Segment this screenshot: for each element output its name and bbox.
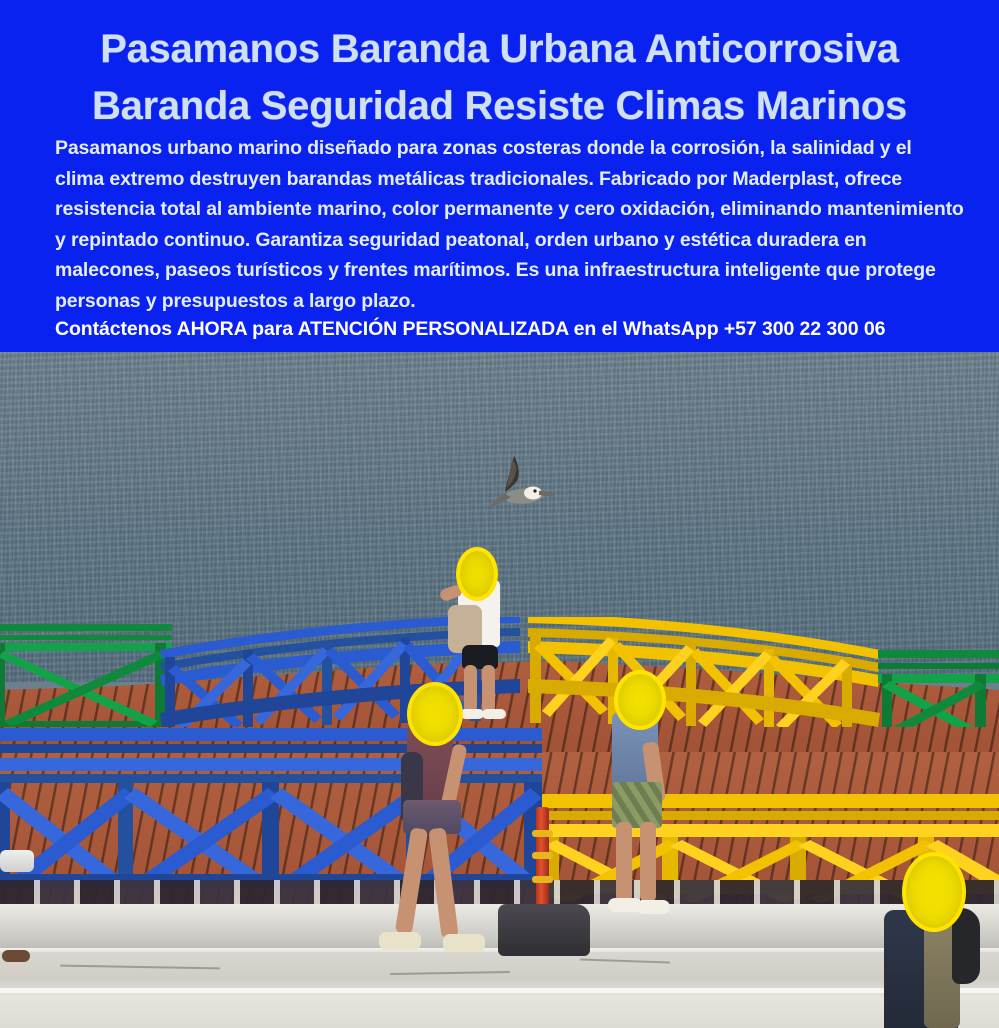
concrete-walkway xyxy=(0,952,999,1028)
page-title-line-1: Pasamanos Baranda Urbana Anticorrosiva xyxy=(0,22,999,76)
pelican-bird-icon xyxy=(481,452,573,520)
face-blur-ellipse xyxy=(407,682,463,746)
contact-call-to-action: Contáctenos AHORA para ATENCIÓN PERSONAL… xyxy=(55,316,975,342)
railing-panel-green-left xyxy=(0,624,172,727)
ground-bag xyxy=(498,904,590,956)
face-blur-ellipse xyxy=(614,670,666,730)
pole-band xyxy=(532,876,553,883)
face-blur-ellipse xyxy=(902,852,966,932)
sandal xyxy=(443,934,485,952)
pole-band xyxy=(532,830,553,837)
concrete-crack xyxy=(580,958,670,963)
promotional-banner-page: Pasamanos Baranda Urbana Anticorrosiva B… xyxy=(0,0,999,1028)
sandal xyxy=(379,932,421,950)
stray-sandal xyxy=(2,950,30,962)
pole-band xyxy=(532,852,553,859)
leg xyxy=(395,827,428,934)
description-paragraph: Pasamanos urbano marino diseñado para zo… xyxy=(55,133,965,316)
concrete-crack xyxy=(60,965,220,970)
header-banner: Pasamanos Baranda Urbana Anticorrosiva B… xyxy=(0,0,999,352)
face-blur-ellipse xyxy=(456,547,498,601)
product-photo xyxy=(0,352,999,1028)
shoe xyxy=(636,900,670,914)
page-title-line-2: Baranda Seguridad Resiste Climas Marinos xyxy=(0,79,999,133)
person-dark-shirt xyxy=(878,852,998,1028)
shorts xyxy=(612,782,662,828)
person-blue-shirt xyxy=(600,670,680,920)
leg xyxy=(616,822,632,902)
foreground-railing-row xyxy=(0,722,999,902)
railing-panel-yellow-upper xyxy=(528,617,880,727)
description-text: Pasamanos urbano marino diseñado para zo… xyxy=(55,133,965,316)
railing-panel-green-right xyxy=(878,650,999,727)
leg xyxy=(640,822,656,902)
stray-shoe xyxy=(0,850,34,872)
leg xyxy=(428,827,458,938)
person-maroon-top xyxy=(385,682,495,972)
